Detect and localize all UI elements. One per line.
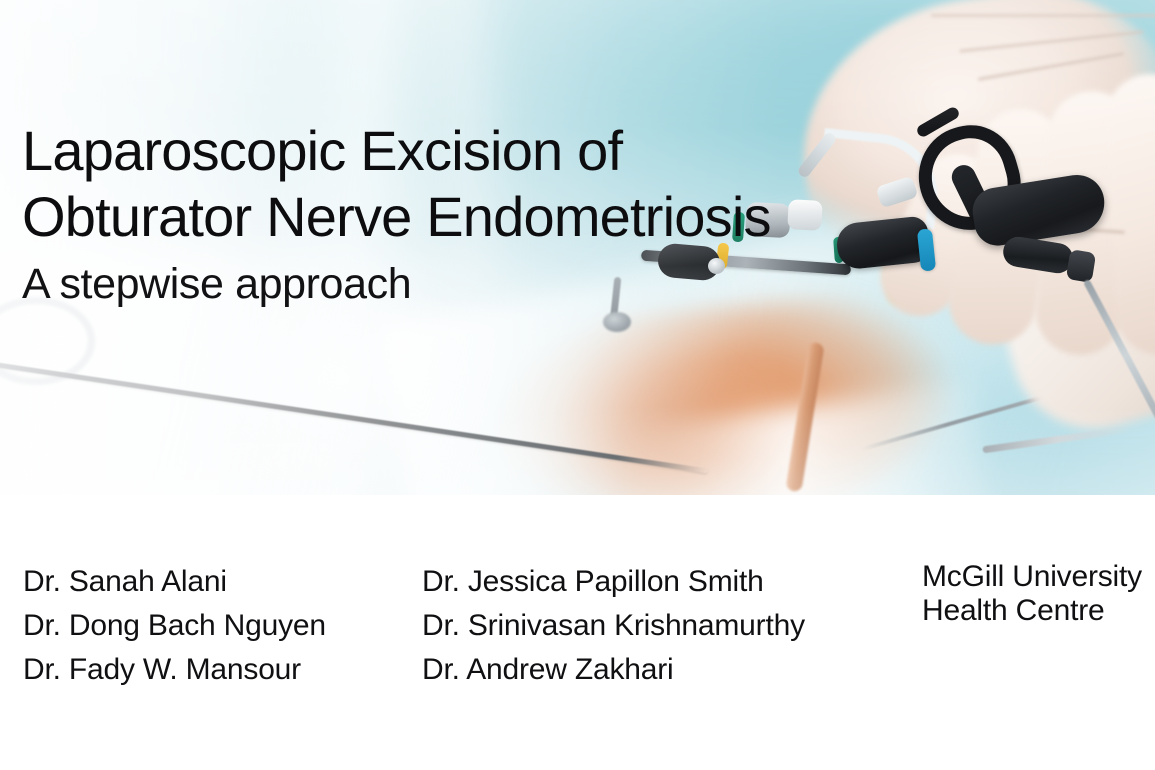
hero-image-band: Laparoscopic Excision of Obturator Nerve… [0,0,1155,495]
institution-line-2: Health Centre [922,594,1142,628]
author-name: Dr. Jessica Papillon Smith [422,560,805,604]
institution-block: McGill University Health Centre [922,560,1142,628]
author-name: Dr. Andrew Zakhari [422,648,805,692]
trocar-nut [1066,250,1096,284]
title-slide: Laparoscopic Excision of Obturator Nerve… [0,0,1155,770]
light-cable [982,425,1132,453]
author-name: Dr. Sanah Alani [23,560,326,604]
title-block: Laparoscopic Excision of Obturator Nerve… [22,118,942,310]
page-subtitle: A stepwise approach [22,258,942,310]
authors-column-2: Dr. Jessica Papillon Smith Dr. Srinivasa… [422,560,805,692]
authors-column-1: Dr. Sanah Alani Dr. Dong Bach Nguyen Dr.… [23,560,326,692]
page-title-line-2: Obturator Nerve Endometriosis [22,184,942,250]
trocar-cap [1001,235,1075,276]
institution-line-1: McGill University [922,560,1142,594]
author-name: Dr. Dong Bach Nguyen [23,604,326,648]
authors-footer: Dr. Sanah Alani Dr. Dong Bach Nguyen Dr.… [0,495,1155,770]
light-cable [1083,279,1155,450]
page-title-line-1: Laparoscopic Excision of [22,118,942,184]
author-name: Dr. Fady W. Mansour [23,648,326,692]
author-name: Dr. Srinivasan Krishnamurthy [422,604,805,648]
authors-grid: Dr. Sanah Alani Dr. Dong Bach Nguyen Dr.… [0,560,1155,700]
